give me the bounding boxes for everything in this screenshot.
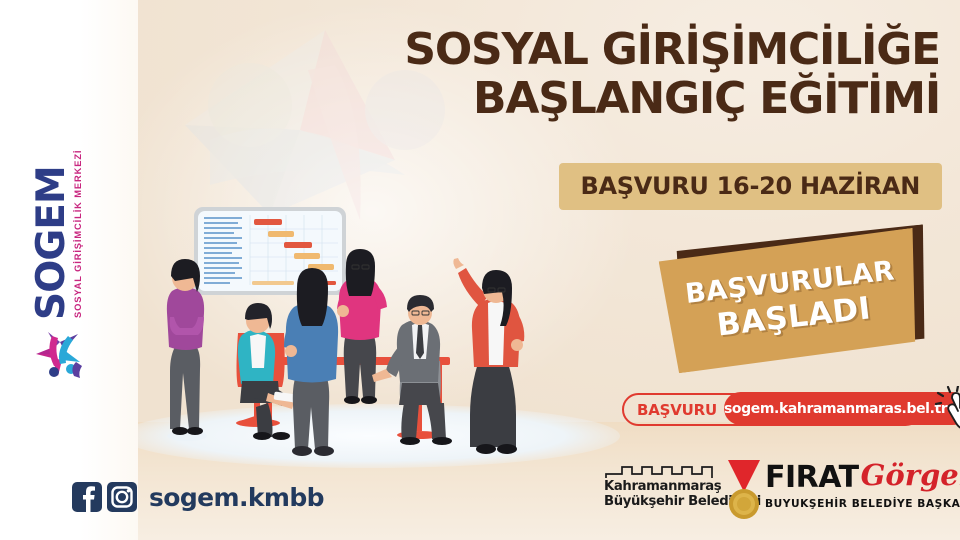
page-title: SOSYAL GİRİŞİMCİLİĞE BAŞLANGIÇ EĞİTİMİ: [360, 28, 940, 122]
person-standing-red-blazer: [453, 258, 524, 454]
partner-logos: Kahramanmaraş Büyükşehir Belediyesi FIRA…: [600, 455, 950, 523]
pointing-hand-click-icon: [935, 386, 960, 431]
red-ribbon-gold-medal-icon: [722, 458, 764, 520]
apply-url-pill[interactable]: sogem.kahramanmaras.bel.tr: [724, 392, 960, 425]
title-line-2: BAŞLANGIÇ EĞİTİMİ: [360, 77, 940, 122]
poster-canvas: SOGEM SOSYAL GİRİŞİMCİLİK MERKEZİ SOSYAL…: [0, 0, 960, 540]
title-line-1: SOSYAL GİRİŞİMCİLİĞE: [360, 28, 940, 73]
castle-crenellation-icon: [604, 462, 734, 480]
business-meeting-illustration: [150, 185, 570, 465]
social-handle: sogem.kmbb: [149, 483, 324, 512]
applications-open-ribbon: BAŞVURULAR BAŞLADI: [660, 228, 945, 368]
facebook-icon[interactable]: [72, 482, 102, 512]
apply-label: BAŞVURU: [624, 401, 726, 419]
municipality-logo: Kahramanmaraş Büyükşehir Belediyesi: [600, 456, 751, 522]
social-media-footer: sogem.kmbb: [72, 480, 324, 514]
apply-url-text: sogem.kahramanmaras.bel.tr: [724, 401, 960, 417]
sogem-star-people-icon: [30, 328, 86, 384]
application-dates-banner: BAŞVURU 16-20 HAZİRAN: [559, 163, 943, 210]
person-seated-suit: [372, 295, 452, 445]
sogem-wordmark: SOGEM: [32, 150, 71, 320]
application-dates-text: BAŞVURU 16-20 HAZİRAN: [581, 172, 921, 200]
instagram-icon[interactable]: [107, 482, 137, 512]
mayor-name-main: FIRAT: [765, 463, 859, 493]
mayor-subtitle: BUYUKŞEHİR BELEDİYE BAŞKANI: [765, 498, 950, 510]
mayor-name-script: Görgel: [861, 461, 960, 490]
sogem-logo[interactable]: SOGEM SOSYAL GİRİŞİMCİLİK MERKEZİ: [27, 134, 89, 384]
apply-url-bar[interactable]: BAŞVURU sogem.kahramanmaras.bel.tr: [622, 393, 922, 426]
sogem-tagline: SOSYAL GİRİŞİMCİLİK MERKEZİ: [74, 150, 83, 318]
mayor-logo: FIRAT Görgel BUYUKŞEHİR BELEDİYE BAŞKANI: [765, 463, 950, 515]
person-standing-back-blue: [284, 268, 338, 456]
